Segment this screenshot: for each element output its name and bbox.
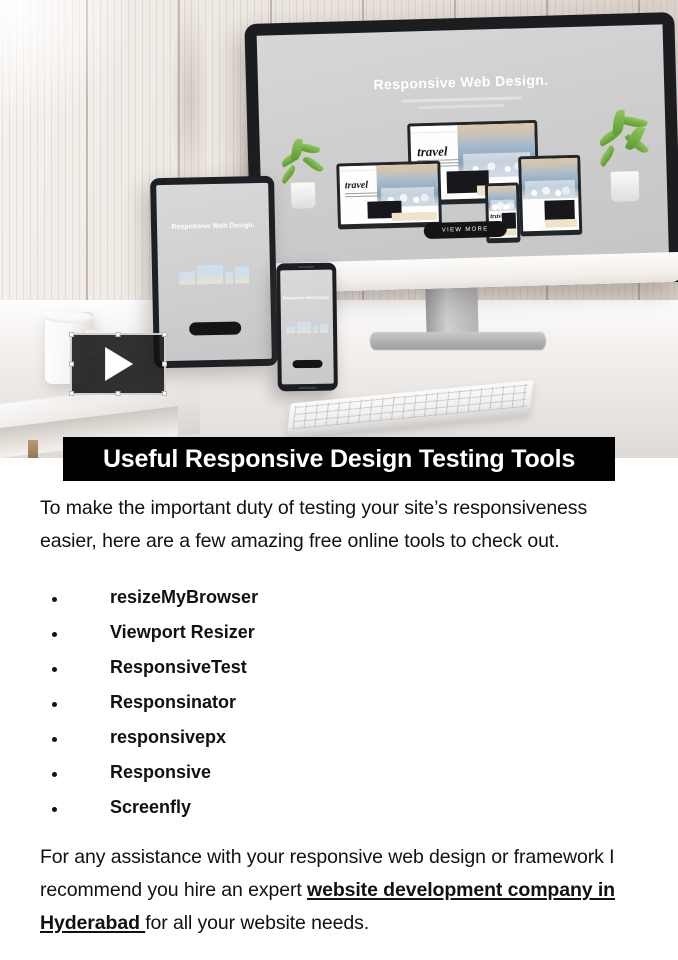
- mock-device-laptop: travel: [336, 161, 442, 230]
- tablet-headline: Responsive Web Design.: [157, 222, 269, 231]
- play-icon: [105, 347, 133, 381]
- monitor-stand-neck: [425, 285, 478, 338]
- outro-paragraph: For any assistance with your responsive …: [40, 841, 640, 940]
- resize-handle-bottom-center[interactable]: [116, 391, 121, 396]
- monitor-screen: Responsive Web Design.: [257, 24, 669, 265]
- resize-handle-bottom-left[interactable]: [69, 391, 74, 396]
- phone-device-cluster: [286, 322, 328, 334]
- page-title: Useful Responsive Design Testing Tools: [103, 445, 575, 474]
- list-item: ResponsiveTest: [40, 650, 638, 685]
- monitor-stand-foot: [370, 332, 546, 350]
- mock-travel-word: travel: [417, 143, 448, 160]
- phone-headline: Responsive Web Design.: [281, 295, 333, 301]
- article-body: To make the important duty of testing yo…: [0, 492, 678, 940]
- list-item: resizeMyBrowser: [40, 580, 638, 615]
- desk-leg: [28, 440, 38, 458]
- plant-pot-right: [611, 171, 640, 202]
- intro-paragraph: To make the important duty of testing yo…: [40, 492, 630, 558]
- phone-speaker: [298, 266, 314, 268]
- phone-home-indicator: [299, 387, 317, 389]
- tools-list: resizeMyBrowser Viewport Resizer Respons…: [40, 580, 638, 825]
- mockup-headline: Responsive Web Design.: [258, 68, 664, 95]
- phone-device: Responsive Web Design.: [276, 263, 338, 392]
- resize-handle-top-left[interactable]: [69, 332, 74, 337]
- tablet-device-cluster: [179, 264, 249, 284]
- resize-handle-bottom-right[interactable]: [162, 391, 167, 396]
- plant-left: [278, 138, 326, 209]
- mockup-subline-2: [419, 104, 505, 109]
- list-item: Screenfly: [40, 790, 638, 825]
- resize-handle-top-right[interactable]: [162, 332, 167, 337]
- tablet-view-more-button[interactable]: [189, 322, 241, 336]
- phone-view-more-button[interactable]: [292, 360, 322, 368]
- mockup-webpage: Responsive Web Design.: [257, 24, 669, 265]
- list-item: Responsive: [40, 755, 638, 790]
- plant-pot-left: [291, 182, 316, 209]
- outro-text-after: for all your website needs.: [145, 912, 369, 934]
- hero-video-thumbnail[interactable]: Responsive Web Design.: [0, 0, 678, 458]
- mockup-subline-1: [401, 96, 521, 102]
- mock-device-tablet-screen: [521, 158, 579, 232]
- article-title-banner: Useful Responsive Design Testing Tools: [63, 437, 615, 481]
- resize-handle-top-center[interactable]: [116, 332, 121, 337]
- list-item: responsivepx: [40, 720, 638, 755]
- resize-handle-middle-right[interactable]: [162, 362, 167, 367]
- mug-rim: [45, 312, 93, 323]
- resize-handle-middle-left[interactable]: [69, 362, 74, 367]
- monitor-body: Responsive Web Design.: [244, 12, 678, 294]
- video-play-button[interactable]: [70, 333, 166, 395]
- mockup-view-more-button[interactable]: VIEW MORE: [424, 221, 507, 239]
- list-item: Viewport Resizer: [40, 615, 638, 650]
- tablet-device: Responsive Web Design.: [150, 176, 278, 369]
- mock-travel-word-laptop: travel: [345, 180, 369, 192]
- wall-light-glow: [0, 0, 140, 120]
- tablet-screen: Responsive Web Design.: [156, 183, 272, 361]
- phone-screen: Responsive Web Design.: [280, 270, 334, 385]
- mock-device-laptop-screen: travel: [339, 164, 439, 225]
- list-item: Responsinator: [40, 685, 638, 720]
- plant-right: [595, 109, 654, 203]
- mock-device-tablet: [518, 155, 582, 237]
